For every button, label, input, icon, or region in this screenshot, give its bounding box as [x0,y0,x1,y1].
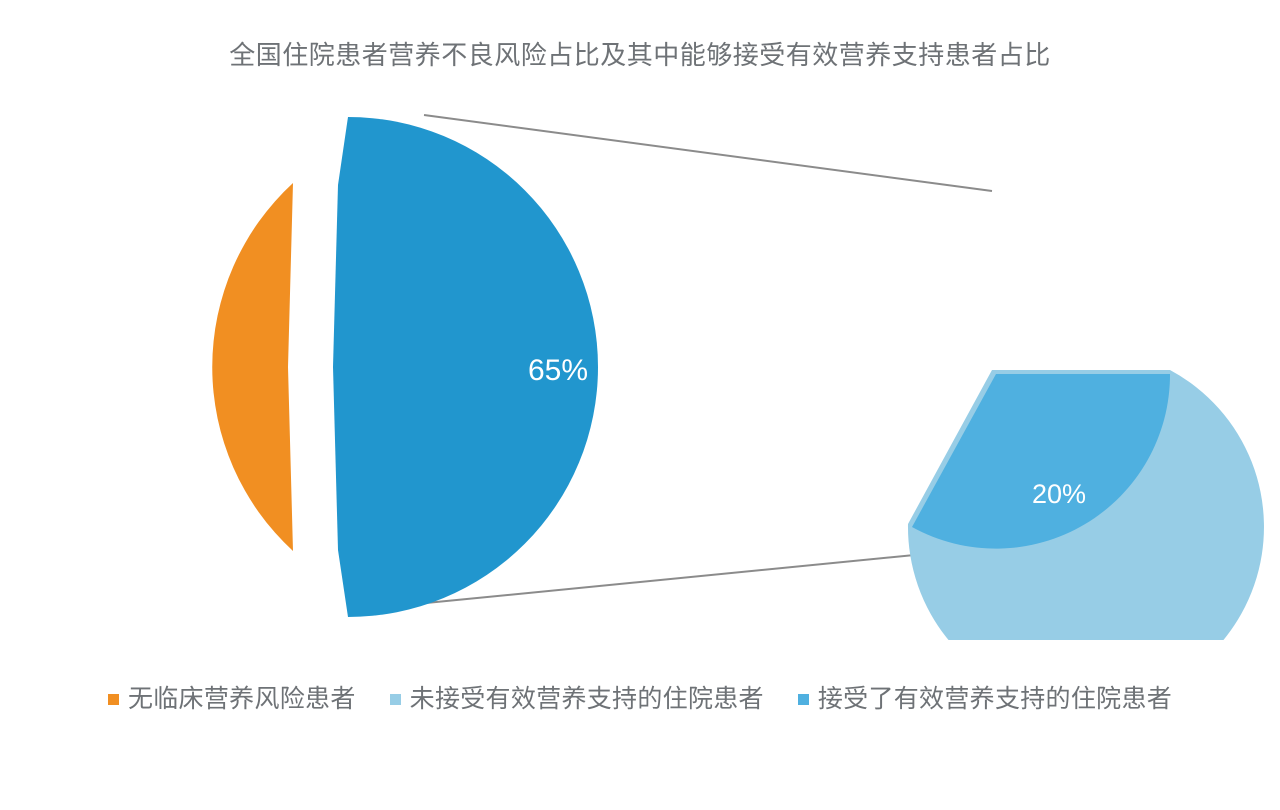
chart-title: 全国住院患者营养不良风险占比及其中能够接受有效营养支持患者占比 [0,38,1280,72]
main-pie-slice-orange[interactable] [212,183,293,551]
main-pie-label-orange: 35% [90,354,150,387]
detail-pie-chart: 46% 20% [886,248,1264,640]
detail-pie-label-mid: 20% [1032,479,1086,509]
legend-item-supported[interactable]: 接受了有效营养支持的住院患者 [798,684,1172,714]
legend-label-unsupported: 未接受有效营养支持的住院患者 [410,684,764,714]
main-pie-label-blue: 65% [528,354,588,387]
main-pie-chart: 35% 65% [90,117,598,617]
legend-label-supported: 接受了有效营养支持的住院患者 [818,684,1172,714]
legend-swatch-light-blue [390,694,401,705]
legend-item-no-risk[interactable]: 无临床营养风险患者 [108,684,356,714]
chart-legend: 无临床营养风险患者 未接受有效营养支持的住院患者 接受了有效营养支持的住院患者 [0,684,1280,714]
pie-charts-svg: 35% 65% 46% 20% [0,95,1280,640]
legend-swatch-mid-blue [798,694,809,705]
plot-area: 35% 65% 46% 20% [0,95,1280,640]
legend-label-no-risk: 无临床营养风险患者 [128,684,356,714]
chart-canvas: 全国住院患者营养不良风险占比及其中能够接受有效营养支持患者占比 35% 65% [0,0,1280,810]
legend-item-unsupported[interactable]: 未接受有效营养支持的住院患者 [390,684,764,714]
legend-swatch-orange [108,694,119,705]
detail-pie-label-light: 46% [886,248,940,278]
